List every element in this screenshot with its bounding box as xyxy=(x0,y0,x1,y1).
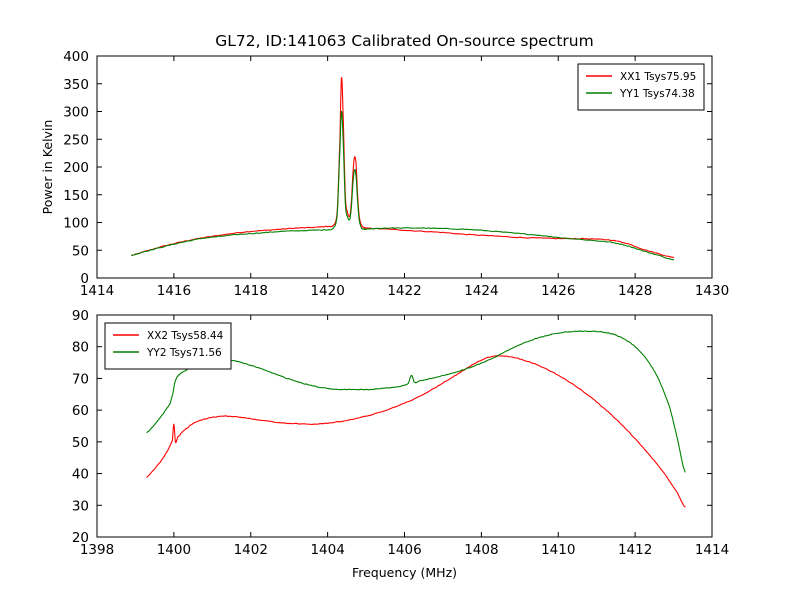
legend-label: XX1 Tsys75.95 xyxy=(620,71,696,83)
x-tick-label: 1402 xyxy=(234,542,268,558)
x-tick-label: 1412 xyxy=(618,542,652,558)
y-tick-label: 350 xyxy=(63,77,89,93)
y-tick-label: 30 xyxy=(72,498,89,514)
y-tick-label: 90 xyxy=(72,308,89,324)
x-tick-label: 1426 xyxy=(541,283,575,299)
x-tick-label: 1400 xyxy=(157,542,191,558)
y-tick-label: 20 xyxy=(72,530,89,546)
series-line-yy1 xyxy=(132,111,674,259)
y-axis-label: Power in Kelvin xyxy=(40,120,55,215)
matplotlib-figure: GL72, ID:141063 Calibrated On-source spe… xyxy=(0,0,800,600)
y-tick-label: 0 xyxy=(80,271,89,287)
x-tick-label: 1430 xyxy=(695,283,729,299)
x-axis-label: Frequency (MHz) xyxy=(352,565,457,580)
panel-top-panel: 1414141614181420142214241426142814300501… xyxy=(40,49,729,299)
legend-label: XX2 Tsys58.44 xyxy=(147,330,224,342)
panel-bottom-panel: 1398140014021404140614081410141214142030… xyxy=(72,308,729,580)
x-tick-label: 1406 xyxy=(387,542,421,558)
legend-label: YY2 Tsys71.56 xyxy=(146,347,222,359)
y-tick-label: 50 xyxy=(72,435,89,451)
legend-label: YY1 Tsys74.38 xyxy=(619,88,695,100)
x-tick-label: 1422 xyxy=(387,283,421,299)
x-tick-label: 1424 xyxy=(464,283,498,299)
series-line-xx2 xyxy=(147,356,685,507)
y-tick-label: 300 xyxy=(63,105,89,121)
plot-canvas: GL72, ID:141063 Calibrated On-source spe… xyxy=(0,0,800,600)
legend-bottom-panel: XX2 Tsys58.44YY2 Tsys71.56 xyxy=(105,323,231,369)
x-tick-label: 1418 xyxy=(234,283,268,299)
y-tick-label: 80 xyxy=(72,340,89,356)
y-tick-label: 150 xyxy=(63,188,89,204)
legend-top-panel: XX1 Tsys75.95YY1 Tsys74.38 xyxy=(578,64,704,110)
y-tick-label: 400 xyxy=(63,49,89,65)
x-tick-label: 1410 xyxy=(541,542,575,558)
x-tick-label: 1416 xyxy=(157,283,191,299)
y-tick-label: 40 xyxy=(72,467,89,483)
y-tick-label: 50 xyxy=(72,243,89,259)
y-tick-label: 100 xyxy=(63,216,89,232)
figure-title: GL72, ID:141063 Calibrated On-source spe… xyxy=(215,32,593,50)
x-tick-label: 1408 xyxy=(464,542,498,558)
x-tick-label: 1428 xyxy=(618,283,652,299)
y-tick-label: 250 xyxy=(63,132,89,148)
x-tick-label: 1414 xyxy=(695,542,729,558)
x-tick-label: 1420 xyxy=(310,283,344,299)
y-tick-label: 70 xyxy=(72,371,89,387)
y-tick-label: 60 xyxy=(72,403,89,419)
y-tick-label: 200 xyxy=(63,160,89,176)
x-tick-label: 1404 xyxy=(310,542,344,558)
